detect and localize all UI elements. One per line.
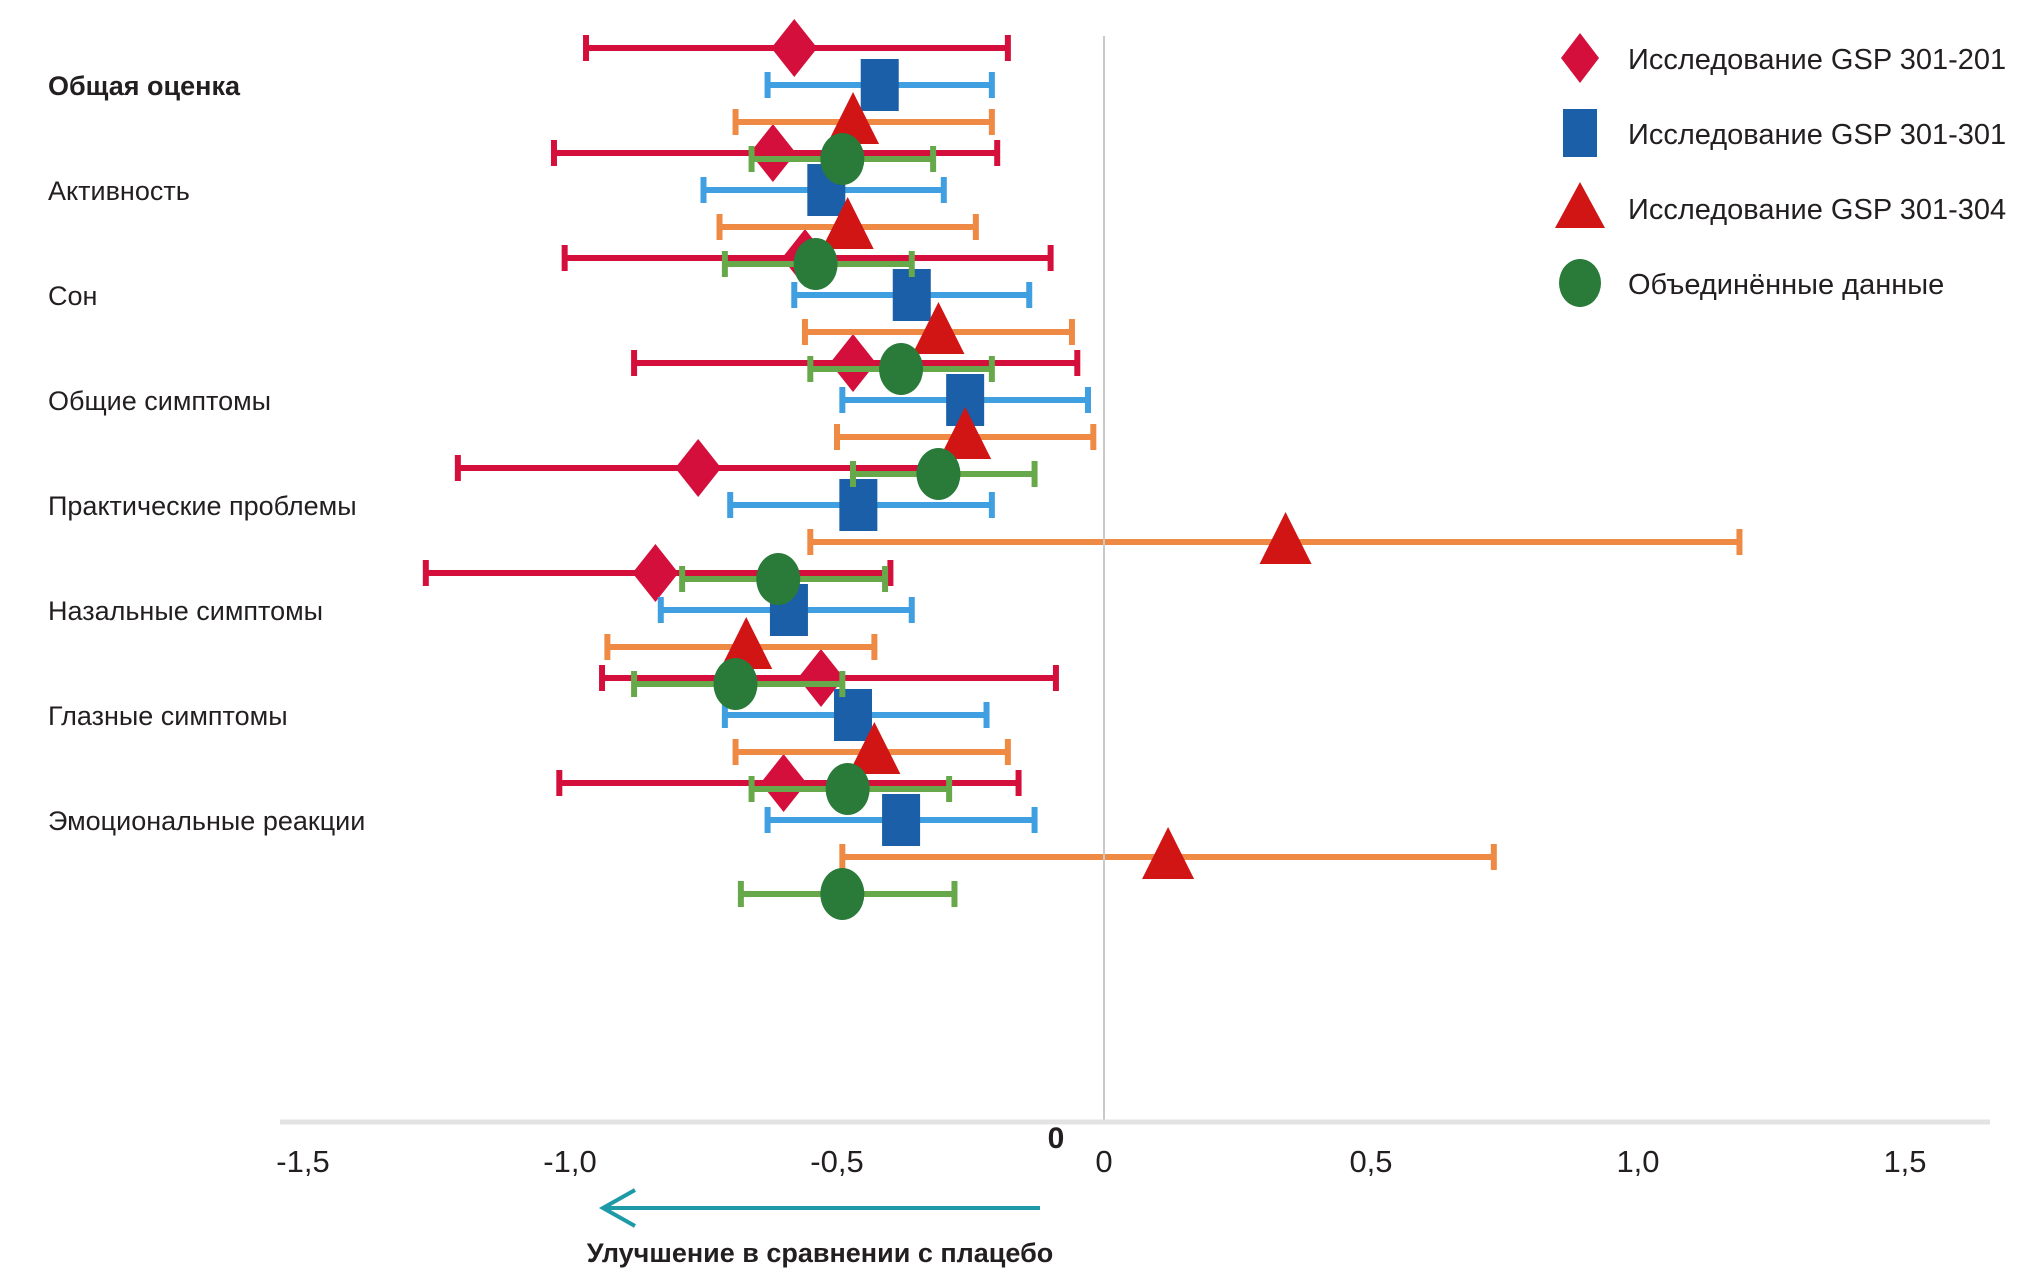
category-label-2: Сон [48,281,97,311]
marker-triangle [1260,512,1312,564]
marker-circle [756,553,800,605]
datapoint-0-3 [634,334,1077,392]
datapoint-3-3 [853,448,1035,500]
forest-plot-figure: Общая оценкаАктивностьСонОбщие симптомыП… [0,0,2022,1281]
category-label-5: Назальные симптомы [48,596,323,626]
legend-marker-circle-icon [1559,259,1601,307]
datapoint-0-0 [586,19,1008,77]
datapoint-2-7 [842,827,1493,879]
datapoint-1-6 [725,689,987,741]
marker-triangle [1142,827,1194,879]
datapoint-3-7 [741,868,955,920]
datapoint-2-4 [810,512,1739,564]
marker-circle [916,448,960,500]
x-tick-label-5: 1,0 [1616,1144,1659,1179]
legend-marker-diamond-icon [1561,33,1599,83]
x-tick-label-6: 1,5 [1883,1144,1926,1179]
datapoint-0-5 [426,544,891,602]
legend-item-3[interactable]: Объединённые данные [1559,259,1944,307]
datapoint-2-3 [837,407,1093,459]
marker-diamond [750,124,796,182]
category-labels-group: Общая оценкаАктивностьСонОбщие симптомыП… [48,71,365,836]
category-label-7: Эмоциональные реакции [48,806,365,836]
x-tick-label-1: -1,0 [543,1144,596,1179]
legend-marker-square-icon [1563,109,1597,157]
marker-square [839,479,877,531]
marker-diamond [771,19,817,77]
marker-square [861,59,899,111]
datapoint-2-1 [720,197,976,249]
marker-diamond [761,754,807,812]
x-tick-label-4: 0,5 [1349,1144,1392,1179]
category-label-6: Глазные симптомы [48,701,288,731]
datapoint-1-7 [768,794,1035,846]
x-tick-label-3: 0 [1095,1144,1112,1179]
improvement-annotation-label: Улучшение в сравнении с плацебо [587,1238,1054,1268]
legend-label-2: Исследование GSP 301-304 [1628,194,2006,226]
datapoint-3-4 [682,553,885,605]
marker-diamond [830,334,876,392]
category-label-1: Активность [48,176,190,206]
datapoint-3-1 [725,238,912,290]
zero-marker-label: 0 [1048,1122,1065,1155]
legend-item-1[interactable]: Исследование GSP 301-301 [1563,109,2006,157]
x-tick-label-2: -0,5 [810,1144,863,1179]
marker-square [882,794,920,846]
category-label-4: Практические проблемы [48,491,357,521]
legend-label-3: Объединённые данные [1628,269,1944,301]
legend-label-0: Исследование GSP 301-201 [1628,44,2006,76]
x-tick-label-0: -1,5 [276,1144,329,1179]
legend-item-0[interactable]: Исследование GSP 301-201 [1561,33,2006,83]
legend-label-1: Исследование GSP 301-301 [1628,119,2006,151]
marker-diamond [675,439,721,497]
improvement-annotation-group: Улучшение в сравнении с плацебо [587,1190,1054,1268]
marker-circle [826,763,870,815]
marker-circle [879,343,923,395]
category-label-3: Общие симптомы [48,386,271,416]
marker-circle [794,238,838,290]
legend-marker-triangle-icon [1555,182,1605,228]
datapoint-0-6 [602,649,1056,707]
legend-item-2[interactable]: Исследование GSP 301-304 [1555,182,2006,228]
category-label-0: Общая оценка [48,71,241,101]
marker-circle [820,133,864,185]
legend-group: Исследование GSP 301-201Исследование GSP… [1555,33,2006,307]
marker-circle [820,868,864,920]
marker-circle [714,658,758,710]
forest-plot-svg: Общая оценкаАктивностьСонОбщие симптомыП… [0,0,2022,1281]
data-rows-group [426,19,1740,920]
marker-diamond [632,544,678,602]
